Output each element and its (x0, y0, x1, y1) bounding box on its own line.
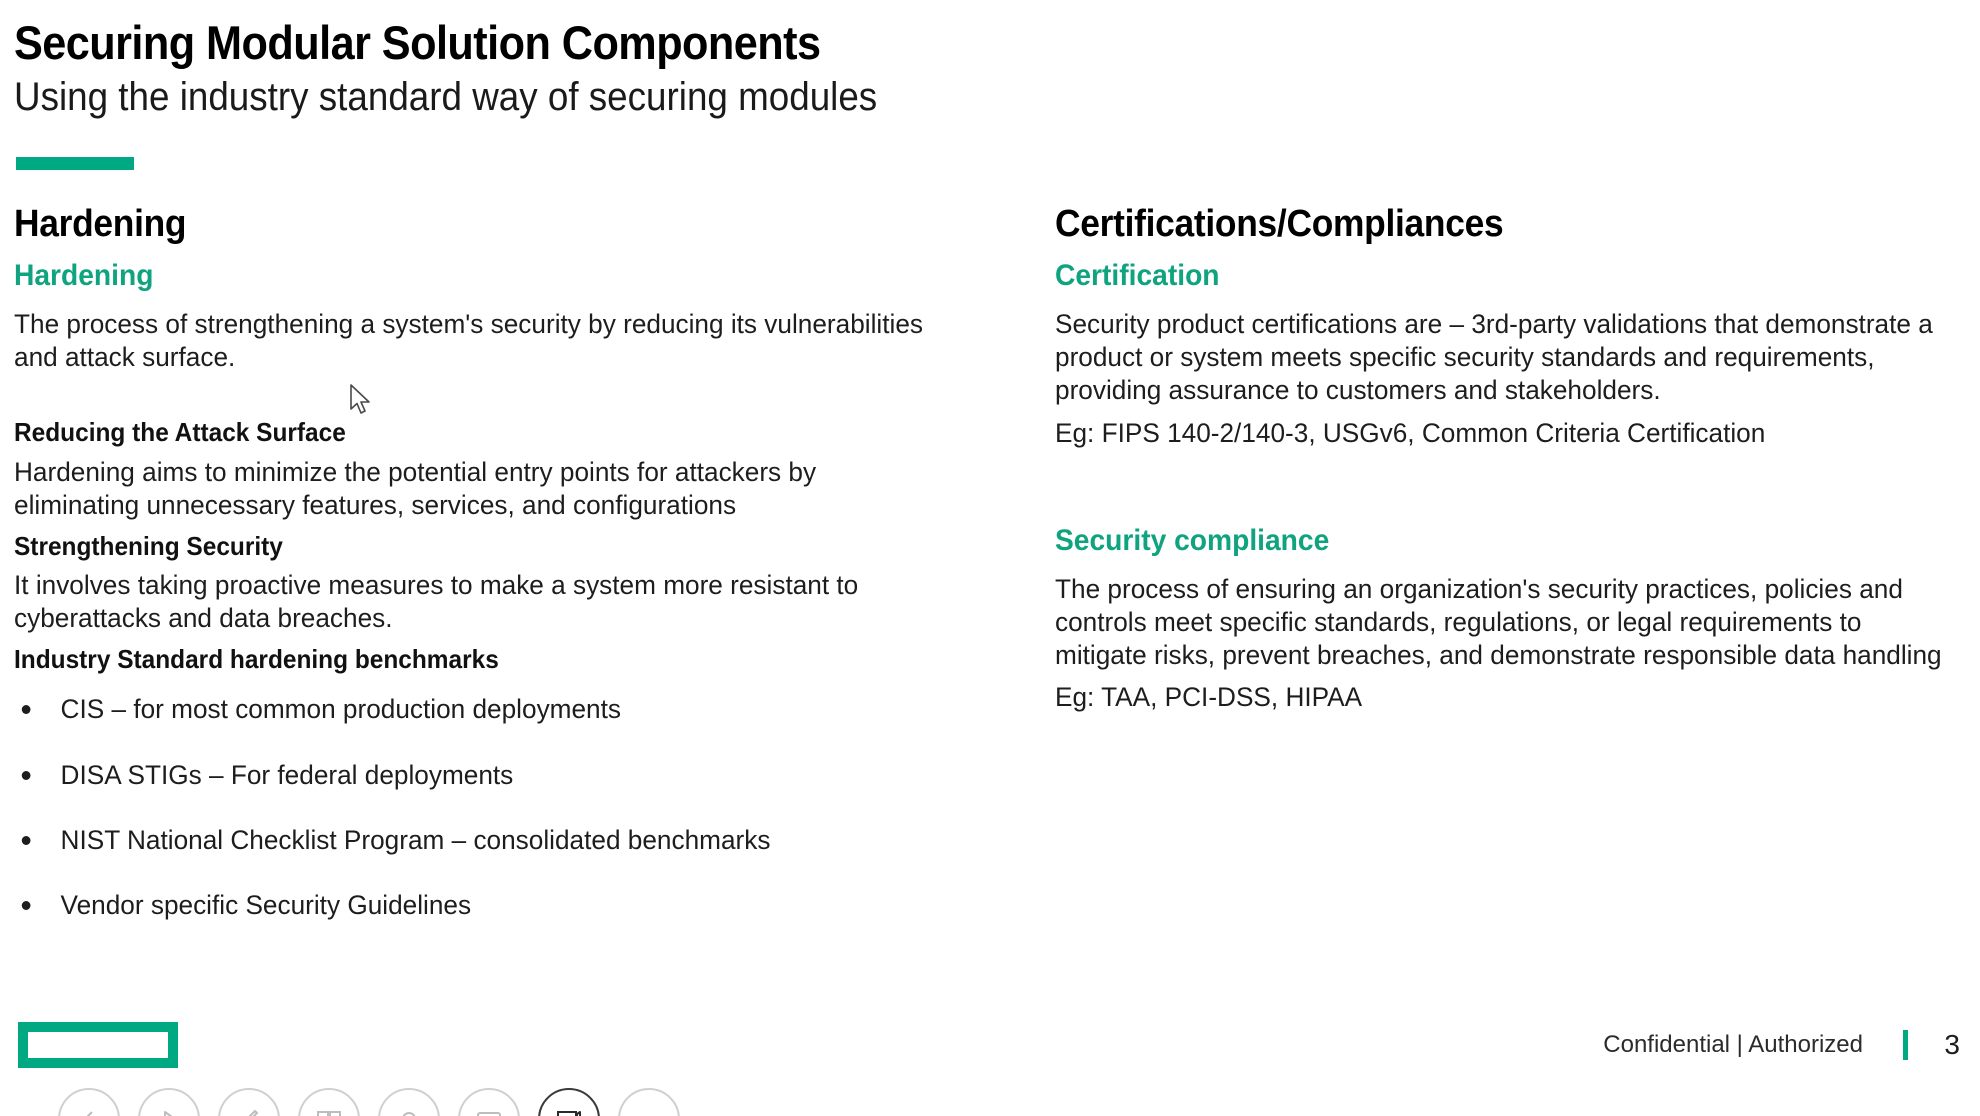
pen-tool-button[interactable] (218, 1088, 280, 1116)
list-item: DISA STIGs – For federal deployments (14, 759, 945, 791)
compliance-description: The process of ensuring an organization'… (1055, 573, 1952, 672)
bullet-dot-icon (22, 705, 31, 714)
list-item-label: CIS – for most common production deploym… (61, 694, 621, 724)
page-subtitle: Using the industry standard way of secur… (14, 75, 1762, 120)
compliance-example: Eg: TAA, PCI-DSS, HIPAA (1055, 681, 1952, 714)
right-column-heading: Certifications/Compliances (1055, 205, 1915, 245)
slide-header: Securing Modular Solution Components Usi… (14, 18, 1914, 120)
presenter-toolbar[interactable] (58, 1088, 680, 1116)
accent-bar (16, 157, 134, 170)
all-slides-button[interactable] (298, 1088, 360, 1116)
subtitles-button[interactable] (458, 1088, 520, 1116)
bullet-dot-icon (22, 836, 31, 845)
more-options-button[interactable] (618, 1088, 680, 1116)
footer-right-group: Confidential | Authorized 3 (1603, 1029, 1960, 1061)
bullet-dot-icon (22, 771, 31, 780)
monitor-icon (555, 1108, 583, 1116)
chevron-left-icon (78, 1108, 100, 1116)
list-item-label: Vendor specific Security Guidelines (61, 890, 472, 920)
compliance-green-title: Security compliance (1055, 524, 1925, 557)
left-column: Hardening Hardening The process of stren… (14, 205, 974, 955)
left-column-heading: Hardening (14, 205, 907, 245)
slide-grid-icon (315, 1107, 343, 1116)
play-triangle-icon (157, 1107, 181, 1116)
strengthening-security-title: Strengthening Security (14, 532, 916, 562)
benchmarks-title: Industry Standard hardening benchmarks (14, 645, 916, 675)
spacer (14, 392, 974, 418)
page-number: 3 (1938, 1029, 1960, 1061)
page-title: Securing Modular Solution Components (14, 18, 1762, 69)
confidentiality-label: Confidential | Authorized (1603, 1031, 1863, 1059)
presenter-view-button[interactable] (538, 1088, 600, 1116)
spacer (1055, 450, 1980, 498)
slide-footer: Confidential | Authorized 3 (0, 996, 1980, 1116)
hpe-logo (18, 1022, 178, 1068)
hardening-description: The process of strengthening a system's … (14, 308, 945, 374)
footer-separator (1903, 1030, 1908, 1060)
slide-body: Hardening Hardening The process of stren… (0, 205, 1980, 1025)
list-item: Vendor specific Security Guidelines (14, 889, 945, 921)
presentation-slide: Securing Modular Solution Components Usi… (0, 0, 1980, 1116)
list-item-label: NIST National Checklist Program – consol… (61, 825, 771, 855)
next-slide-button[interactable] (138, 1088, 200, 1116)
certification-description: Security product certifications are – 3r… (1055, 308, 1952, 407)
subtitle-icon (475, 1108, 503, 1116)
certification-example: Eg: FIPS 140-2/140-3, USGv6, Common Crit… (1055, 417, 1952, 450)
certification-green-title: Certification (1055, 259, 1925, 292)
benchmarks-list: CIS – for most common production deploym… (14, 693, 974, 922)
list-item: CIS – for most common production deploym… (14, 693, 945, 725)
strengthening-security-body: It involves taking proactive measures to… (14, 569, 945, 635)
list-item: NIST National Checklist Program – consol… (14, 824, 945, 856)
hardening-green-title: Hardening (14, 259, 916, 292)
list-item-label: DISA STIGs – For federal deployments (61, 760, 514, 790)
reducing-attack-surface-title: Reducing the Attack Surface (14, 418, 916, 448)
previous-slide-button[interactable] (58, 1088, 120, 1116)
right-column: Certifications/Compliances Certification… (1055, 205, 1980, 714)
bullet-dot-icon (22, 901, 31, 910)
pen-icon (236, 1106, 262, 1116)
reducing-attack-surface-body: Hardening aims to minimize the potential… (14, 456, 945, 522)
laser-icon (396, 1106, 422, 1116)
laser-pointer-button[interactable] (378, 1088, 440, 1116)
spacer (1055, 498, 1980, 524)
